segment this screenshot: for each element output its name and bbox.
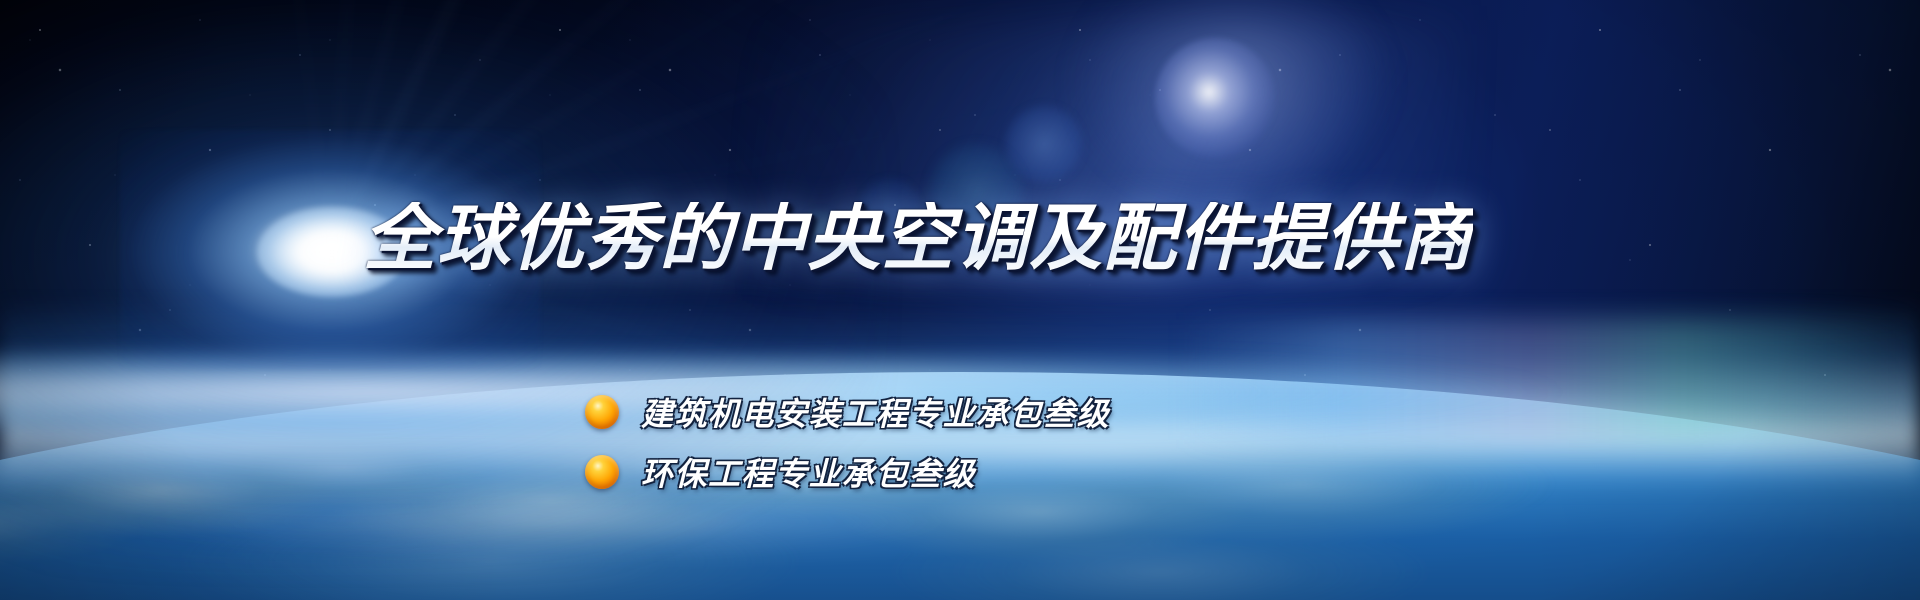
banner-bullet-list: 建筑机电安装工程专业承包叁级 环保工程专业承包叁级 <box>585 390 1110 510</box>
orange-bullet-icon <box>585 395 619 429</box>
orange-bullet-icon <box>585 455 619 489</box>
hero-banner: 全球优秀的中央空调及配件提供商 建筑机电安装工程专业承包叁级 环保工程专业承包叁… <box>0 0 1920 600</box>
bullet-item-label: 环保工程专业承包叁级 <box>641 449 976 495</box>
banner-content: 全球优秀的中央空调及配件提供商 建筑机电安装工程专业承包叁级 环保工程专业承包叁… <box>0 0 1920 600</box>
list-item: 环保工程专业承包叁级 <box>585 450 1110 494</box>
banner-headline: 全球优秀的中央空调及配件提供商 <box>363 202 1473 275</box>
list-item: 建筑机电安装工程专业承包叁级 <box>585 390 1110 434</box>
bullet-item-label: 建筑机电安装工程专业承包叁级 <box>641 389 1110 435</box>
